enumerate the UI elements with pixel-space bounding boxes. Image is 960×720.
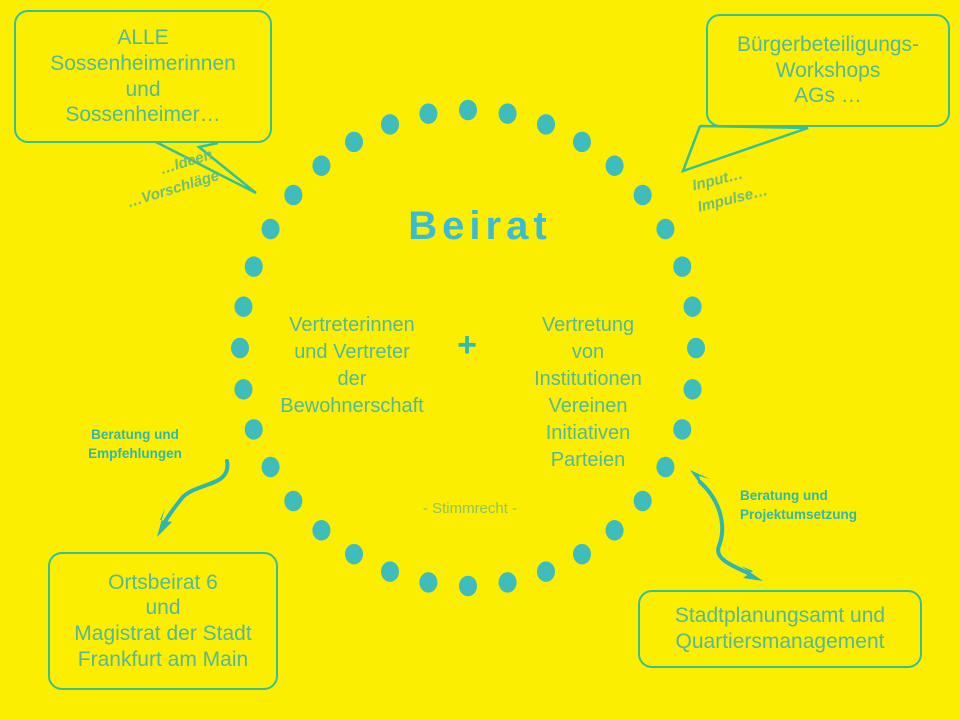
page-title-beirat: Beirat — [0, 204, 960, 249]
arrow-label-beratung-projektumsetzung: Beratung undProjektumsetzung — [740, 487, 920, 525]
ring-dot — [687, 338, 705, 359]
ring-dot — [381, 561, 399, 582]
ring-dot — [419, 103, 437, 124]
arrowhead-down-left — [157, 508, 172, 537]
ring-dot — [634, 491, 652, 512]
ring-dot — [537, 114, 555, 135]
arrow-beratung-empfehlungen — [162, 461, 227, 527]
ring-dot — [634, 185, 652, 206]
ring-dot — [573, 132, 591, 153]
box-ortsbeirat-text: Ortsbeirat 6undMagistrat der StadtFrankf… — [50, 570, 276, 672]
ring-dot — [459, 576, 477, 597]
ring-dot — [345, 132, 363, 153]
ring-dot — [234, 379, 252, 400]
ring-dot — [312, 520, 330, 541]
ring-dot — [245, 419, 263, 440]
arrow-label-beratung-empfehlungen: Beratung undEmpfehlungen — [60, 426, 210, 464]
ring-dot — [606, 155, 624, 176]
ring-dot — [673, 256, 691, 277]
box-ortsbeirat-magistrat[interactable]: Ortsbeirat 6undMagistrat der StadtFrankf… — [48, 552, 278, 690]
ring-dot — [234, 296, 252, 317]
ring-dot — [245, 256, 263, 277]
ring-dot — [231, 338, 249, 359]
bubble-buergerbeteiligungs-workshops[interactable]: Bürgerbeteiligungs-WorkshopsAGs … — [706, 14, 950, 127]
center-column-institutionen: VertretungvonInstitutionenVereinenInitia… — [488, 312, 688, 474]
diagram-canvas: ALLESossenheimerinnenundSossenheimer… Bü… — [0, 0, 960, 720]
ring-dot — [312, 155, 330, 176]
bubble-workshops-text: Bürgerbeteiligungs-WorkshopsAGs … — [708, 32, 948, 109]
ring-dot — [345, 544, 363, 565]
box-stadtplanungsamt-quartiersmanagement[interactable]: Stadtplanungsamt undQuartiersmanagement — [638, 590, 922, 668]
ring-dot — [499, 103, 517, 124]
ring-dot — [284, 491, 302, 512]
ring-dot — [262, 457, 280, 478]
footnote-stimmrecht: - Stimmrecht - — [330, 500, 610, 517]
box-stadtplanung-text: Stadtplanungsamt undQuartiersmanagement — [640, 603, 920, 654]
ring-dot — [419, 572, 437, 593]
ring-dot — [381, 114, 399, 135]
center-column-bewohnerschaft: Vertreterinnenund VertreterderBewohnersc… — [252, 312, 452, 420]
ring-dot — [573, 544, 591, 565]
ring-dot — [284, 185, 302, 206]
arrowhead-down-right — [741, 566, 763, 581]
bubble-alle-sossenheimer[interactable]: ALLESossenheimerinnenundSossenheimer… — [14, 10, 272, 143]
ring-dot — [606, 520, 624, 541]
ring-dot — [459, 100, 477, 121]
ring-dot — [537, 561, 555, 582]
arrowhead-up-left — [690, 470, 710, 488]
plus-icon: + — [447, 328, 487, 362]
ring-dot — [499, 572, 517, 593]
bubble-alle-text: ALLESossenheimerinnenundSossenheimer… — [16, 25, 270, 127]
